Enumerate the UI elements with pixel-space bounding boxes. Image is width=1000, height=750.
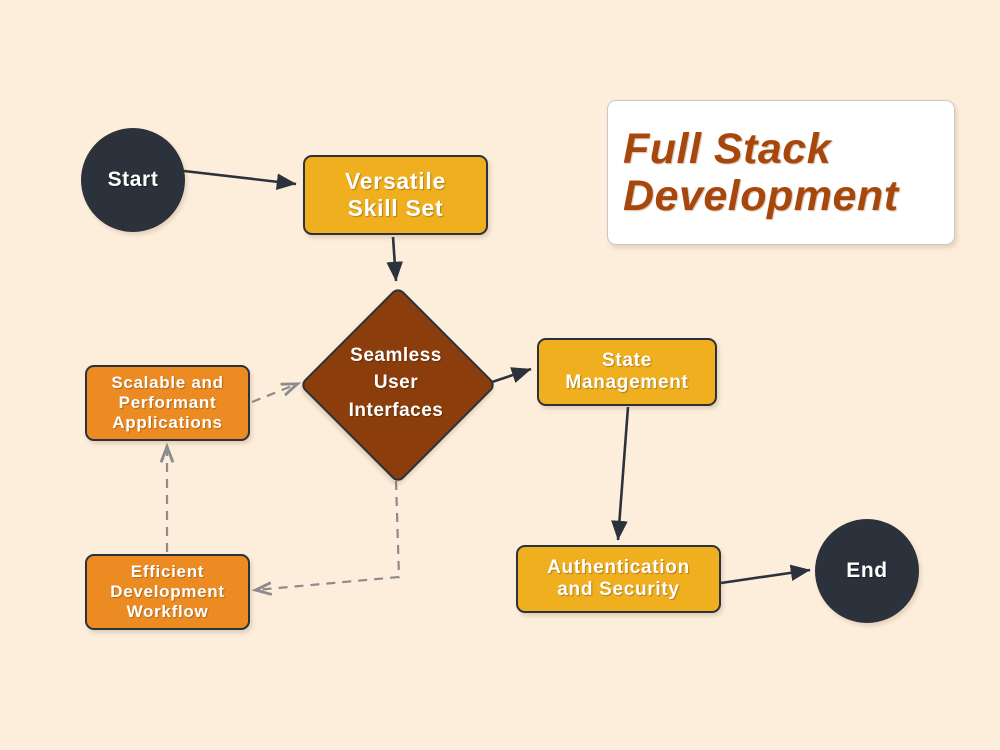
diagram-title: Full Stack Development (623, 126, 954, 219)
edge-start-to-versatile (184, 171, 296, 184)
node-authentication-and-security[interactable]: Authenticationand Security (516, 545, 721, 613)
edge-seamless-to-state (489, 369, 531, 383)
node-versatile-skill-set[interactable]: VersatileSkill Set (303, 155, 488, 235)
edge-state-to-auth (618, 407, 628, 540)
node-start-label: Start (108, 168, 159, 192)
edge-versatile-to-seamless (393, 237, 396, 281)
node-efficient-development-workflow[interactable]: EfficientDevelopmentWorkflow (85, 554, 250, 630)
diagram-title-card: Full Stack Development (607, 100, 955, 245)
edge-seamless-to-efficient (256, 481, 399, 590)
node-scalable-performant-applications[interactable]: Scalable andPerformantApplications (85, 365, 250, 441)
node-end[interactable]: End (815, 519, 919, 623)
node-authentication-and-security-label: Authenticationand Security (547, 557, 690, 601)
edge-auth-to-end (721, 570, 810, 583)
node-seamless-user-interfaces[interactable]: SeamlessUserInterfaces (301, 288, 491, 478)
node-end-label: End (846, 559, 887, 583)
node-scalable-performant-applications-label: Scalable andPerformantApplications (111, 373, 223, 432)
node-efficient-development-workflow-label: EfficientDevelopmentWorkflow (110, 562, 224, 621)
edge-scalable-to-seamless (252, 384, 297, 402)
flowchart-canvas: Start VersatileSkill Set SeamlessUserInt… (0, 0, 1000, 750)
node-state-management[interactable]: StateManagement (537, 338, 717, 406)
node-versatile-skill-set-label: VersatileSkill Set (345, 168, 446, 221)
node-seamless-user-interfaces-label: SeamlessUserInterfaces (349, 342, 444, 425)
node-start[interactable]: Start (81, 128, 185, 232)
node-state-management-label: StateManagement (565, 350, 688, 394)
